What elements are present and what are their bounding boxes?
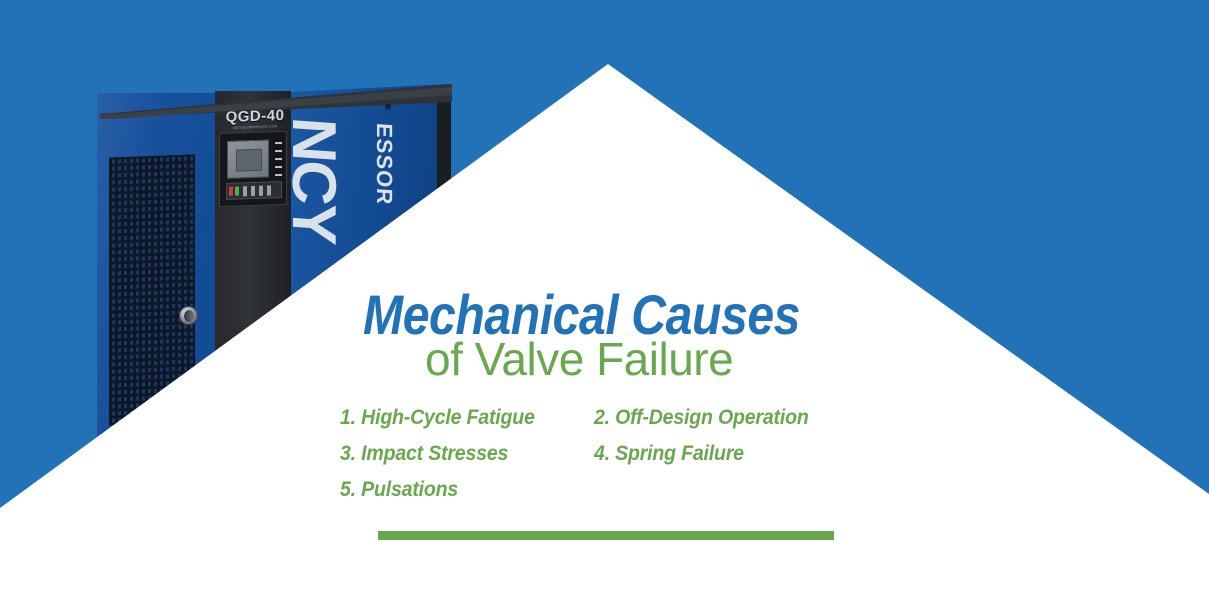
banner-graphic: QGD-40 quincycompressor.com NCY ESSOR Me… bbox=[0, 0, 1209, 606]
page-subtitle: of Valve Failure bbox=[425, 334, 733, 385]
green-accent-bar bbox=[378, 531, 834, 540]
causes-list-row: 3. Impact Stresses 4. Spring Failure bbox=[340, 442, 900, 466]
text-content: Mechanical Causes of Valve Failure 1. Hi… bbox=[0, 0, 1209, 606]
list-item: 3. Impact Stresses bbox=[340, 442, 576, 466]
causes-list-row: 5. Pulsations bbox=[340, 478, 900, 502]
causes-list: 1. High-Cycle Fatigue 2. Off-Design Oper… bbox=[340, 406, 900, 514]
causes-list-row: 1. High-Cycle Fatigue 2. Off-Design Oper… bbox=[340, 406, 900, 430]
list-item: 4. Spring Failure bbox=[594, 442, 744, 466]
list-item: 1. High-Cycle Fatigue bbox=[340, 406, 576, 430]
list-item: 2. Off-Design Operation bbox=[594, 406, 809, 430]
list-item: 5. Pulsations bbox=[340, 478, 576, 502]
